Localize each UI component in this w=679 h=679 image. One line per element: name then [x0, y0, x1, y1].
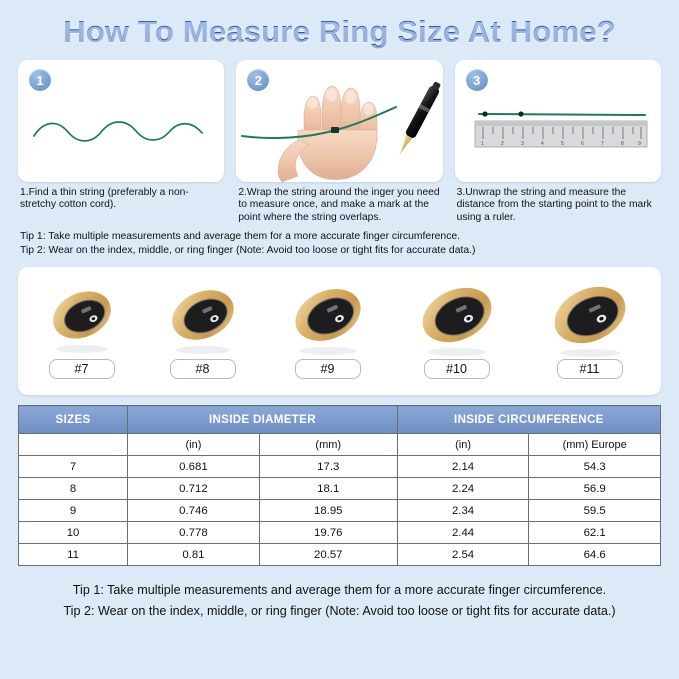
ring-item-8: #8: [153, 273, 253, 379]
svg-text:6: 6: [581, 141, 584, 147]
ring-size-label-8: #8: [170, 359, 236, 379]
cell-circumference-in: 2.54: [397, 544, 529, 566]
cell-size: 7: [19, 456, 128, 478]
subheader-blank: [19, 434, 128, 456]
cell-size: 8: [19, 478, 128, 500]
header-sizes: SIZES: [19, 406, 128, 434]
step-card-1: 1 1.Find a thin string (preferably a non…: [18, 60, 224, 224]
svg-text:5: 5: [561, 141, 564, 147]
svg-text:1: 1: [481, 141, 484, 147]
step-3-badge: 3: [466, 69, 488, 91]
ruler-with-string-icon: 123 456 789: [473, 108, 649, 154]
cell-diameter-mm: 20.57: [259, 544, 397, 566]
table-row: 11 0.81 20.57 2.54 64.6: [19, 544, 661, 566]
cell-circumference-mm: 54.3: [529, 456, 661, 478]
steps-row: 1 1.Find a thin string (preferably a non…: [0, 50, 679, 224]
step-1-caption: 1.Find a thin string (preferably a non-s…: [18, 182, 224, 212]
ring-size-table: SIZES INSIDE DIAMETER INSIDE CIRCUMFEREN…: [18, 405, 661, 566]
step-3-caption: 3.Unwrap the string and measure the dist…: [455, 182, 661, 224]
table-row: 9 0.746 18.95 2.34 59.5: [19, 500, 661, 522]
tip-bottom-2: Tip 2: Wear on the index, middle, or rin…: [18, 601, 661, 622]
subheader-circumference-in: (in): [397, 434, 529, 456]
cell-size: 10: [19, 522, 128, 544]
ring-size-label-7: #7: [49, 359, 115, 379]
tips-top: Tip 1: Take multiple measurements and av…: [0, 224, 679, 257]
subheader-diameter-mm: (mm): [259, 434, 397, 456]
cell-circumference-in: 2.34: [397, 500, 529, 522]
size-table-wrap: SIZES INSIDE DIAMETER INSIDE CIRCUMFEREN…: [18, 405, 661, 566]
cell-circumference-mm: 62.1: [529, 522, 661, 544]
smart-ring-icon: [34, 273, 130, 357]
smart-ring-icon: [153, 273, 253, 357]
step-card-3: 3: [455, 60, 661, 224]
step-2-caption: 2.Wrap the string around the inger you n…: [236, 182, 442, 224]
ring-item-11: #11: [534, 273, 646, 379]
table-row: 8 0.712 18.1 2.24 56.9: [19, 478, 661, 500]
ring-item-9: #9: [276, 273, 380, 379]
table-group-header-row: SIZES INSIDE DIAMETER INSIDE CIRCUMFEREN…: [19, 406, 661, 434]
ring-size-label-11: #11: [557, 359, 623, 379]
cell-diameter-in: 0.681: [128, 456, 260, 478]
cell-circumference-in: 2.24: [397, 478, 529, 500]
cell-diameter-mm: 18.95: [259, 500, 397, 522]
table-row: 10 0.778 19.76 2.44 62.1: [19, 522, 661, 544]
smart-ring-icon: [276, 273, 380, 357]
hand-with-string-icon: [236, 74, 442, 182]
cell-diameter-mm: 18.1: [259, 478, 397, 500]
cell-diameter-in: 0.81: [128, 544, 260, 566]
step-2-illustration-card: 2: [236, 60, 442, 182]
svg-text:4: 4: [541, 141, 544, 147]
tips-bottom: Tip 1: Take multiple measurements and av…: [0, 566, 679, 622]
cell-circumference-mm: 64.6: [529, 544, 661, 566]
header-inside-circumference: INSIDE CIRCUMFERENCE: [397, 406, 660, 434]
hand-shape: [278, 86, 377, 182]
page-title: How To Measure Ring Size At Home?: [0, 0, 679, 50]
step-3-illustration-card: 3: [455, 60, 661, 182]
smart-ring-icon: [403, 273, 511, 357]
table-sub-header-row: (in) (mm) (in) (mm) Europe: [19, 434, 661, 456]
cell-size: 9: [19, 500, 128, 522]
cell-circumference-mm: 56.9: [529, 478, 661, 500]
step-1-illustration-card: 1: [18, 60, 224, 182]
smart-ring-icon: [534, 273, 646, 357]
svg-text:3: 3: [521, 141, 524, 147]
table-row: 7 0.681 17.3 2.14 54.3: [19, 456, 661, 478]
svg-text:7: 7: [601, 141, 604, 147]
svg-text:2: 2: [501, 141, 504, 147]
cell-diameter-in: 0.778: [128, 522, 260, 544]
cell-diameter-in: 0.746: [128, 500, 260, 522]
cell-diameter-mm: 19.76: [259, 522, 397, 544]
cell-circumference-mm: 59.5: [529, 500, 661, 522]
cell-circumference-in: 2.14: [397, 456, 529, 478]
step-1-badge: 1: [29, 69, 51, 91]
subheader-diameter-in: (in): [128, 434, 260, 456]
ring-size-guide-page: How To Measure Ring Size At Home? 1 1.Fi…: [0, 0, 679, 679]
subheader-circumference-mm: (mm) Europe: [529, 434, 661, 456]
step-card-2: 2: [236, 60, 442, 224]
ring-sizes-panel: #7 #8: [18, 267, 661, 395]
svg-text:8: 8: [621, 141, 624, 147]
tip-bottom-1: Tip 1: Take multiple measurements and av…: [18, 580, 661, 601]
wavy-string-icon: [32, 118, 212, 148]
ring-item-7: #7: [34, 273, 130, 379]
header-inside-diameter: INSIDE DIAMETER: [128, 406, 398, 434]
ring-size-label-9: #9: [295, 359, 361, 379]
svg-text:9: 9: [638, 141, 641, 147]
ring-size-label-10: #10: [424, 359, 490, 379]
cell-circumference-in: 2.44: [397, 522, 529, 544]
cell-size: 11: [19, 544, 128, 566]
cell-diameter-in: 0.712: [128, 478, 260, 500]
fountain-pen-icon: [394, 80, 442, 158]
tip-top-2: Tip 2: Wear on the index, middle, or rin…: [20, 244, 659, 258]
cell-diameter-mm: 17.3: [259, 456, 397, 478]
ring-item-10: #10: [403, 273, 511, 379]
tip-top-1: Tip 1: Take multiple measurements and av…: [20, 230, 659, 244]
